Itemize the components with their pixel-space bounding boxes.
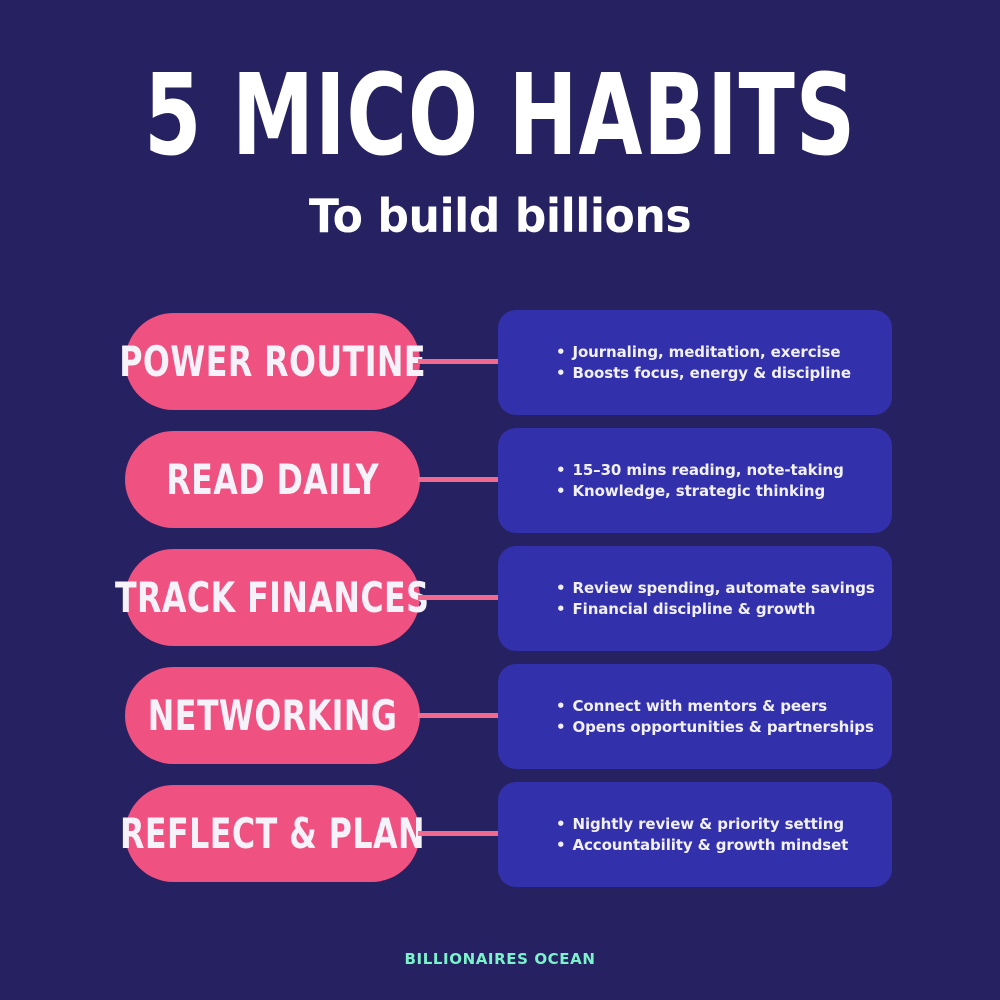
bullet-text: Accountability & growth mindset xyxy=(573,835,849,856)
habit-pill-1[interactable]: POWER ROUTINE xyxy=(125,313,420,410)
bullet-text: Knowledge, strategic thinking xyxy=(573,481,826,502)
habit-row: READ DAILY • 15–30 mins reading, note-ta… xyxy=(0,431,1000,528)
connector-line-5 xyxy=(418,831,500,836)
infographic-poster: 5 MICO HABITS To build billions POWER RO… xyxy=(0,0,1000,1000)
habit-row: POWER ROUTINE • Journaling, meditation, … xyxy=(0,313,1000,410)
page-subtitle: To build billions xyxy=(20,190,980,242)
bullet-text: Journaling, meditation, exercise xyxy=(573,342,841,363)
bullet-dot-icon: • xyxy=(556,481,566,502)
habit-pill-3[interactable]: TRACK FINANCES xyxy=(125,549,420,646)
detail-bullet: • Connect with mentors & peers xyxy=(556,696,892,717)
habit-label: TRACK FINANCES xyxy=(115,576,430,620)
bullet-dot-icon: • xyxy=(556,460,566,481)
detail-bullet: • Review spending, automate savings xyxy=(556,578,892,599)
bullet-dot-icon: • xyxy=(556,696,566,717)
connector-line-1 xyxy=(418,359,500,364)
habit-label: READ DAILY xyxy=(166,458,379,502)
connector-line-2 xyxy=(418,477,500,482)
bullet-text: Review spending, automate savings xyxy=(573,578,875,599)
connector-line-4 xyxy=(418,713,500,718)
detail-bullet: • Journaling, meditation, exercise xyxy=(556,342,892,363)
bullet-text: Boosts focus, energy & discipline xyxy=(573,363,851,384)
habit-detail-box-2: • 15–30 mins reading, note-taking • Know… xyxy=(498,428,892,533)
detail-bullet: • Knowledge, strategic thinking xyxy=(556,481,892,502)
page-title: 5 MICO HABITS xyxy=(90,62,910,170)
detail-bullet: • 15–30 mins reading, note-taking xyxy=(556,460,892,481)
bullet-dot-icon: • xyxy=(556,599,566,620)
habit-row: REFLECT & PLAN • Nightly review & priori… xyxy=(0,785,1000,882)
habit-detail-box-1: • Journaling, meditation, exercise • Boo… xyxy=(498,310,892,415)
connector-line-3 xyxy=(418,595,500,600)
habit-detail-box-3: • Review spending, automate savings • Fi… xyxy=(498,546,892,651)
bullet-dot-icon: • xyxy=(556,363,566,384)
bullet-dot-icon: • xyxy=(556,717,566,738)
bullet-dot-icon: • xyxy=(556,814,566,835)
bullet-text: Connect with mentors & peers xyxy=(573,696,828,717)
habit-row: TRACK FINANCES • Review spending, automa… xyxy=(0,549,1000,646)
detail-bullet: • Accountability & growth mindset xyxy=(556,835,892,856)
bullet-dot-icon: • xyxy=(556,342,566,363)
habit-row: NETWORKING • Connect with mentors & peer… xyxy=(0,667,1000,764)
habit-pill-4[interactable]: NETWORKING xyxy=(125,667,420,764)
bullet-text: Financial discipline & growth xyxy=(573,599,816,620)
habit-detail-box-5: • Nightly review & priority setting • Ac… xyxy=(498,782,892,887)
bullet-dot-icon: • xyxy=(556,835,566,856)
bullet-text: Opens opportunities & partnerships xyxy=(573,717,874,738)
detail-bullet: • Boosts focus, energy & discipline xyxy=(556,363,892,384)
habit-label: REFLECT & PLAN xyxy=(120,812,425,856)
habit-label: NETWORKING xyxy=(148,694,398,738)
detail-bullet: • Financial discipline & growth xyxy=(556,599,892,620)
poster-footer: BILLIONAIRES OCEAN xyxy=(0,950,1000,969)
detail-bullet: • Nightly review & priority setting xyxy=(556,814,892,835)
poster-header: 5 MICO HABITS To build billions xyxy=(0,62,1000,242)
habit-label: POWER ROUTINE xyxy=(119,340,426,384)
habit-detail-box-4: • Connect with mentors & peers • Opens o… xyxy=(498,664,892,769)
habit-pill-2[interactable]: READ DAILY xyxy=(125,431,420,528)
bullet-dot-icon: • xyxy=(556,578,566,599)
brand-name: BILLIONAIRES OCEAN xyxy=(405,950,596,968)
detail-bullet: • Opens opportunities & partnerships xyxy=(556,717,892,738)
habit-pill-5[interactable]: REFLECT & PLAN xyxy=(125,785,420,882)
habits-list: POWER ROUTINE • Journaling, meditation, … xyxy=(0,313,1000,882)
bullet-text: Nightly review & priority setting xyxy=(573,814,844,835)
bullet-text: 15–30 mins reading, note-taking xyxy=(573,460,844,481)
